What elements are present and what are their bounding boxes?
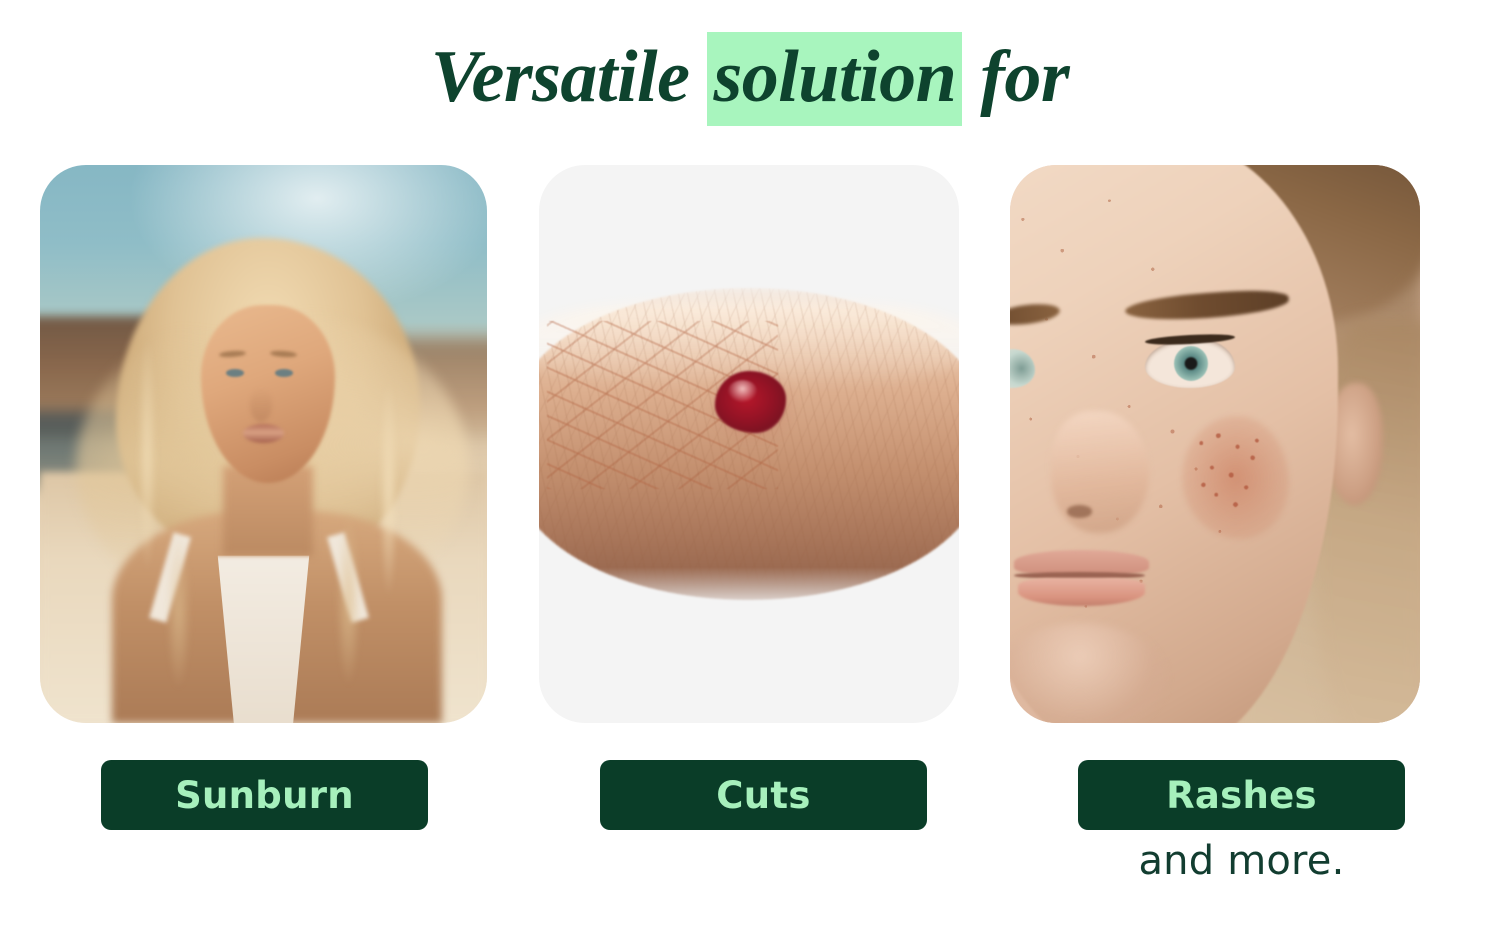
rashes-image [1010,165,1420,723]
cuts-image [539,165,959,723]
headline-highlight: solution [707,32,962,126]
label-pill-rashes[interactable]: Rashes [1078,760,1405,830]
page-title: Versatile solution for [0,36,1500,119]
headline-part-1: Versatile [431,36,708,118]
label-pill-cuts[interactable]: Cuts [600,760,927,830]
headline-part-2: for [962,36,1069,118]
sun-glare-overlay [40,165,487,723]
portrait-lower-lip-shape [1018,578,1145,606]
label-row: Sunburn Cuts Rashes [0,760,1500,832]
label-pill-sunburn[interactable]: Sunburn [101,760,428,830]
portrait-nostril-shape [1067,505,1092,517]
portrait-nose-shape [1051,411,1149,534]
and-more-text: and more. [1078,838,1405,884]
card-cuts[interactable] [539,165,959,723]
cuts-top-fade-overlay [539,277,959,310]
card-row [40,165,1420,723]
card-rashes[interactable] [1010,165,1420,723]
sunburn-image [40,165,487,723]
portrait-upper-lip-shape [1014,550,1149,575]
cheek-rash-dots-overlay [1182,416,1289,539]
card-sunburn[interactable] [40,165,487,723]
wound-highlight-shape [728,380,757,402]
cuts-bottom-fade-overlay [539,567,959,612]
promo-banner: Versatile solution for [0,0,1500,938]
wound-shape [715,371,786,432]
